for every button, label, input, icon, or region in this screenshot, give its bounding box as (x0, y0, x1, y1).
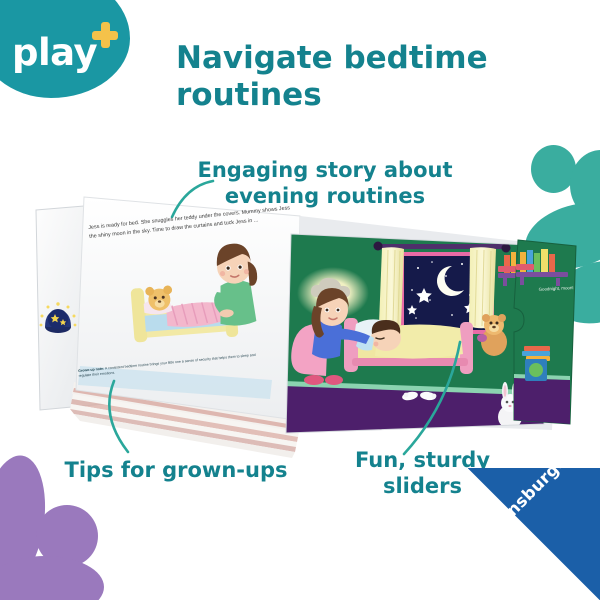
play-plus-logo-text: play (12, 34, 97, 71)
page-title: Navigate bedtime routines (176, 40, 526, 113)
plus-icon (92, 22, 118, 48)
ravensburger-logo: Ravensburger (468, 468, 600, 600)
callout-engaging-story: Engaging story about evening routines (196, 158, 454, 209)
right-slider-tab (514, 240, 576, 424)
promo-canvas: Jess is ready for bed. She snuggles her … (0, 0, 600, 600)
callout-tips-for-grownups: Tips for grown-ups (52, 458, 300, 484)
book-left-page (76, 197, 300, 420)
